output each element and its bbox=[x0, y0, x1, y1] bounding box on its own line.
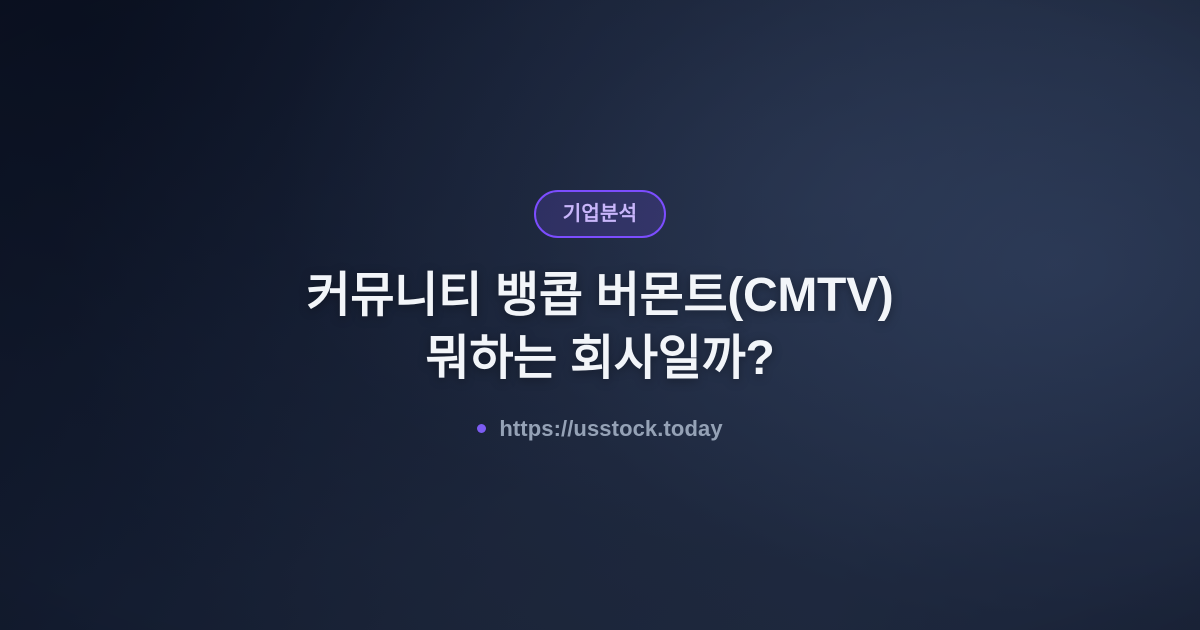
category-badge: 기업분석 bbox=[534, 190, 666, 238]
card-content: 기업분석 커뮤니티 뱅콥 버몬트(CMTV) 뭐하는 회사일까? https:/… bbox=[0, 0, 1200, 630]
category-badge-label: 기업분석 bbox=[563, 204, 637, 224]
page-title-line-2: 뭐하는 회사일까? bbox=[307, 328, 894, 390]
site-url-text: https://usstock.today bbox=[499, 418, 722, 440]
page-title: 커뮤니티 뱅콥 버몬트(CMTV) 뭐하는 회사일까? bbox=[307, 265, 894, 390]
bullet-dot-icon bbox=[477, 424, 486, 433]
site-url: https://usstock.today bbox=[477, 418, 722, 440]
og-card: 기업분석 커뮤니티 뱅콥 버몬트(CMTV) 뭐하는 회사일까? https:/… bbox=[0, 0, 1200, 630]
page-title-line-1: 커뮤니티 뱅콥 버몬트(CMTV) bbox=[307, 265, 894, 327]
